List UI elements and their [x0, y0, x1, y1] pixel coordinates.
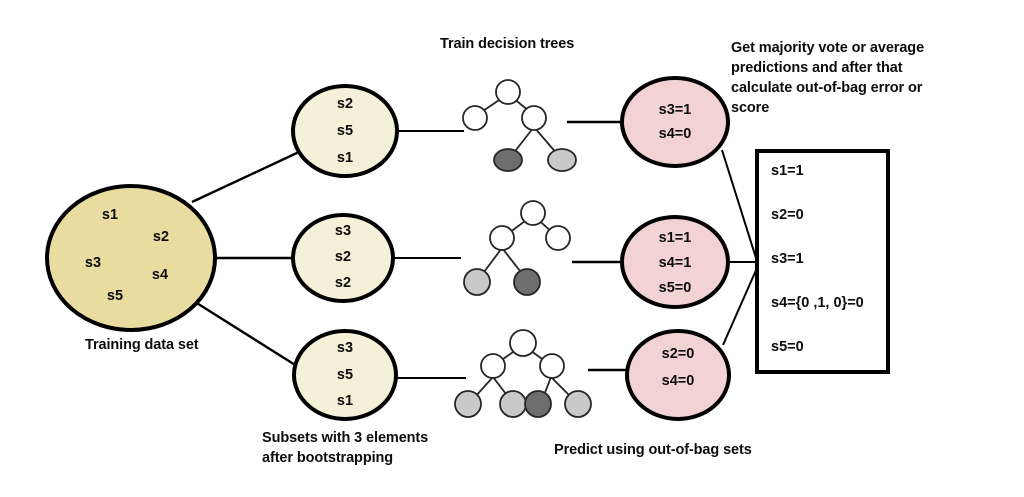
- prediction-3-node[interactable]: s2=0 s4=0: [627, 331, 729, 419]
- final-result-box[interactable]: s1=1 s2=0 s3=1 s4={0 ,1, 0}=0 s5=0: [757, 151, 888, 372]
- connector-prediction-1-result: [722, 150, 756, 258]
- subset-2-item-2: s2: [335, 275, 351, 291]
- final-result-item-3: s4={0 ,1, 0}=0: [771, 295, 864, 311]
- subset-1-item-1: s5: [337, 123, 353, 139]
- tree-2-leaf-1: [514, 269, 540, 295]
- training-data-set-item-2: s3: [85, 255, 101, 271]
- tree-3-leaf-2: [525, 391, 551, 417]
- connector-root-subset-3: [192, 300, 300, 368]
- tree-3-leaf-0: [455, 391, 481, 417]
- training-data-set-item-4: s5: [107, 288, 123, 304]
- final-result-item-1: s2=0: [771, 207, 804, 223]
- prediction-3-item-1: s4=0: [662, 373, 695, 389]
- tree-2-node-internal-right: [546, 226, 570, 250]
- tree-1-node-internal-left: [463, 106, 487, 130]
- prediction-1-item-1: s4=0: [659, 126, 692, 142]
- decision-tree-1[interactable]: [463, 80, 576, 171]
- final-result-item-4: s5=0: [771, 339, 804, 355]
- subset-2-item-0: s3: [335, 223, 351, 239]
- tree-2-node-internal-left: [490, 226, 514, 250]
- tree-2-node-root: [521, 201, 545, 225]
- connector-root-subset-1: [192, 152, 299, 202]
- decision-tree-3[interactable]: [455, 330, 591, 417]
- subset-3-node[interactable]: s3 s5 s1: [294, 331, 396, 419]
- final-result-item-0: s1=1: [771, 163, 804, 179]
- subset-1-node[interactable]: s2 s5 s1: [293, 86, 397, 176]
- decision-tree-2[interactable]: [464, 201, 570, 295]
- subset-1-item-2: s1: [337, 150, 353, 166]
- tree-3-node-internal-left: [481, 354, 505, 378]
- tree-3-node-internal-right: [540, 354, 564, 378]
- prediction-2-node[interactable]: s1=1 s4=1 s5=0: [622, 217, 728, 307]
- subset-to-tree-connectors: [393, 131, 466, 378]
- prediction-1-node[interactable]: s3=1 s4=0: [622, 78, 728, 166]
- training-data-set-ellipse: [47, 186, 215, 330]
- tree-1-node-internal-right: [522, 106, 546, 130]
- subset-2-node[interactable]: s3 s2 s2: [293, 215, 393, 301]
- subset-1-item-0: s2: [337, 96, 353, 112]
- tree-1-leaf-1: [548, 149, 576, 171]
- diagram-canvas: s1 s2 s3 s4 s5 s2 s5 s1 s3 s2 s2 s3 s5 s…: [0, 0, 1024, 497]
- prediction-1-item-0: s3=1: [659, 102, 692, 118]
- caption-majority-vote: Get majority vote or average predictions…: [731, 38, 924, 118]
- prediction-2-item-1: s4=1: [659, 255, 692, 271]
- subset-2-item-1: s2: [335, 249, 351, 265]
- caption-training-data-set: Training data set: [85, 335, 199, 355]
- subset-3-item-2: s1: [337, 393, 353, 409]
- prediction-2-item-2: s5=0: [659, 280, 692, 296]
- prediction-2-item-0: s1=1: [659, 230, 692, 246]
- tree-1-leaf-0: [494, 149, 522, 171]
- caption-train-decision-trees: Train decision trees: [440, 34, 574, 54]
- training-data-set-item-3: s4: [152, 267, 168, 283]
- prediction-1-ellipse: [622, 78, 728, 166]
- prediction-3-item-0: s2=0: [662, 346, 695, 362]
- tree-3-leaf-3: [565, 391, 591, 417]
- training-data-set-item-1: s2: [153, 229, 169, 245]
- tree-3-leaf-1: [500, 391, 526, 417]
- connector-prediction-3-result: [723, 268, 757, 345]
- tree-2-leaf-0: [464, 269, 490, 295]
- training-data-set-node[interactable]: s1 s2 s3 s4 s5: [47, 186, 215, 330]
- tree-3-node-root: [510, 330, 536, 356]
- tree-1-node-root: [496, 80, 520, 104]
- caption-predict-out-of-bag: Predict using out-of-bag sets: [554, 440, 752, 460]
- subset-3-item-1: s5: [337, 367, 353, 383]
- caption-subsets-bootstrapping: Subsets with 3 elements after bootstrapp…: [262, 428, 428, 468]
- subset-3-item-0: s3: [337, 340, 353, 356]
- training-data-set-item-0: s1: [102, 207, 118, 223]
- final-result-item-2: s3=1: [771, 251, 804, 267]
